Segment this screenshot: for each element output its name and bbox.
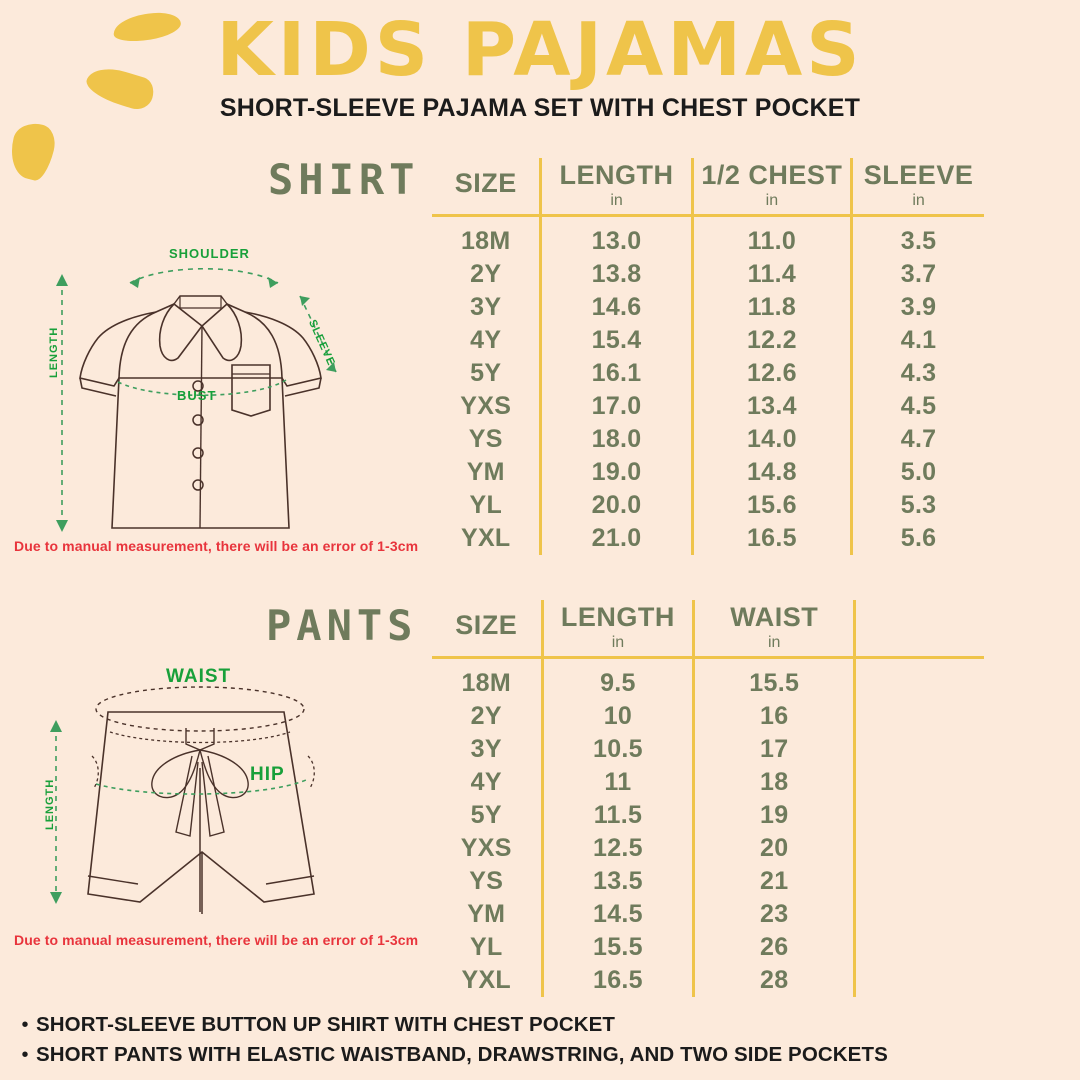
section-label-pants: PANTS <box>266 601 417 650</box>
table-row: 5Y11.519 <box>432 799 984 832</box>
cell-waist: 16 <box>694 700 855 733</box>
shirt-size-table: SIZE LENGTH in 1/2 CHEST in SLEEVE in 18… <box>432 158 984 555</box>
cell-half-chest: 11.4 <box>692 258 852 291</box>
table-row: YXS12.520 <box>432 832 984 865</box>
cell-waist: 20 <box>694 832 855 865</box>
cell-sleeve: 3.9 <box>852 291 984 324</box>
cell-length: 10.5 <box>542 733 694 766</box>
cell-spacer <box>855 658 984 701</box>
shirt-diagram: SHOULDER SLEEVE BUST LENGTH <box>14 238 414 543</box>
pants-label-length: LENGTH <box>44 779 56 830</box>
cell-waist: 26 <box>694 931 855 964</box>
cell-spacer <box>855 700 984 733</box>
table-row: YS18.014.04.7 <box>432 423 984 456</box>
page-title: KIDS PAJAMAS <box>0 0 1080 90</box>
table-row: YXS17.013.44.5 <box>432 390 984 423</box>
cell-length: 19.0 <box>541 456 692 489</box>
cell-length: 18.0 <box>541 423 692 456</box>
table-row: YXL21.016.55.6 <box>432 522 984 555</box>
cell-size: 18M <box>432 216 541 259</box>
cell-half-chest: 15.6 <box>692 489 852 522</box>
cell-size: 5Y <box>432 799 542 832</box>
cell-spacer <box>855 964 984 997</box>
cell-size: YL <box>432 931 542 964</box>
cell-length: 20.0 <box>541 489 692 522</box>
cell-spacer <box>855 799 984 832</box>
cell-half-chest: 11.8 <box>692 291 852 324</box>
pants-col-length: LENGTH in <box>542 600 694 658</box>
table-row: 2Y1016 <box>432 700 984 733</box>
cell-length: 11.5 <box>542 799 694 832</box>
cell-waist: 15.5 <box>694 658 855 701</box>
cell-length: 11 <box>542 766 694 799</box>
pants-measurement-disclaimer: Due to manual measurement, there will be… <box>14 932 418 948</box>
cell-sleeve: 3.7 <box>852 258 984 291</box>
list-item: • SHORT PANTS WITH ELASTIC WAISTBAND, DR… <box>14 1042 1064 1068</box>
pants-col-waist: WAIST in <box>694 600 855 658</box>
table-row: 3Y14.611.83.9 <box>432 291 984 324</box>
cell-sleeve: 3.5 <box>852 216 984 259</box>
pants-size-table: SIZE LENGTH in WAIST in 18M9.515.5 2Y101… <box>432 600 984 997</box>
cell-waist: 28 <box>694 964 855 997</box>
bullet-icon: • <box>14 1042 36 1068</box>
pants-col-size: SIZE <box>432 600 542 658</box>
table-row: 3Y10.517 <box>432 733 984 766</box>
cell-sleeve: 4.7 <box>852 423 984 456</box>
cell-waist: 21 <box>694 865 855 898</box>
product-features-list: • SHORT-SLEEVE BUTTON UP SHIRT WITH CHES… <box>14 1012 1064 1072</box>
cell-size: 18M <box>432 658 542 701</box>
cell-length: 9.5 <box>542 658 694 701</box>
cell-length: 16.1 <box>541 357 692 390</box>
pants-col-spacer <box>855 600 984 658</box>
cell-half-chest: 13.4 <box>692 390 852 423</box>
cell-sleeve: 4.1 <box>852 324 984 357</box>
cell-length: 13.5 <box>542 865 694 898</box>
pants-table-header-row: SIZE LENGTH in WAIST in <box>432 600 984 658</box>
cell-length: 13.8 <box>541 258 692 291</box>
cell-waist: 18 <box>694 766 855 799</box>
cell-length: 17.0 <box>541 390 692 423</box>
pants-illustration-svg <box>14 662 414 942</box>
cell-half-chest: 11.0 <box>692 216 852 259</box>
cell-size: YS <box>432 865 542 898</box>
cell-length: 10 <box>542 700 694 733</box>
table-row: YS13.521 <box>432 865 984 898</box>
pants-diagram: WAIST HIP LENGTH <box>14 662 414 947</box>
cell-spacer <box>855 832 984 865</box>
cell-half-chest: 12.2 <box>692 324 852 357</box>
cell-sleeve: 5.6 <box>852 522 984 555</box>
cell-half-chest: 12.6 <box>692 357 852 390</box>
shirt-label-length: LENGTH <box>48 327 60 378</box>
cell-size: YXS <box>432 832 542 865</box>
cell-size: YM <box>432 456 541 489</box>
cell-length: 15.5 <box>542 931 694 964</box>
shirt-col-size: SIZE <box>432 158 541 216</box>
decor-petal-left <box>5 119 59 183</box>
cell-sleeve: 5.3 <box>852 489 984 522</box>
cell-size: YM <box>432 898 542 931</box>
cell-size: 2Y <box>432 258 541 291</box>
cell-length: 16.5 <box>542 964 694 997</box>
cell-sleeve: 4.3 <box>852 357 984 390</box>
table-row: 2Y13.811.43.7 <box>432 258 984 291</box>
list-item: • SHORT-SLEEVE BUTTON UP SHIRT WITH CHES… <box>14 1012 1064 1038</box>
cell-spacer <box>855 766 984 799</box>
cell-spacer <box>855 733 984 766</box>
shirt-col-length: LENGTH in <box>541 158 692 216</box>
cell-length: 12.5 <box>542 832 694 865</box>
table-row: YXL16.528 <box>432 964 984 997</box>
shirt-col-half-chest: 1/2 CHEST in <box>692 158 852 216</box>
cell-size: 4Y <box>432 324 541 357</box>
bullet-icon: • <box>14 1012 36 1038</box>
feature-text: SHORT-SLEEVE BUTTON UP SHIRT WITH CHEST … <box>36 1012 615 1038</box>
cell-half-chest: 14.0 <box>692 423 852 456</box>
cell-length: 15.4 <box>541 324 692 357</box>
cell-spacer <box>855 898 984 931</box>
table-row: 18M13.011.03.5 <box>432 216 984 259</box>
cell-size: 3Y <box>432 733 542 766</box>
cell-half-chest: 14.8 <box>692 456 852 489</box>
cell-waist: 19 <box>694 799 855 832</box>
table-row: 4Y15.412.24.1 <box>432 324 984 357</box>
feature-text: SHORT PANTS WITH ELASTIC WAISTBAND, DRAW… <box>36 1042 888 1068</box>
cell-size: 5Y <box>432 357 541 390</box>
cell-length: 13.0 <box>541 216 692 259</box>
table-row: YL15.526 <box>432 931 984 964</box>
cell-size: 4Y <box>432 766 542 799</box>
pants-label-hip: HIP <box>250 764 285 786</box>
cell-size: YXL <box>432 964 542 997</box>
page-subtitle: SHORT-SLEEVE PAJAMA SET WITH CHEST POCKE… <box>0 90 1080 123</box>
cell-length: 14.5 <box>542 898 694 931</box>
table-row: 18M9.515.5 <box>432 658 984 701</box>
cell-length: 14.6 <box>541 291 692 324</box>
table-row: 4Y1118 <box>432 766 984 799</box>
cell-size: 2Y <box>432 700 542 733</box>
table-row: YM19.014.85.0 <box>432 456 984 489</box>
shirt-label-bust: BUST <box>177 388 216 403</box>
cell-size: YL <box>432 489 541 522</box>
table-row: 5Y16.112.64.3 <box>432 357 984 390</box>
cell-size: YXS <box>432 390 541 423</box>
pants-label-waist: WAIST <box>166 666 231 688</box>
shirt-col-sleeve: SLEEVE in <box>852 158 984 216</box>
cell-spacer <box>855 931 984 964</box>
shirt-label-shoulder: SHOULDER <box>169 246 250 261</box>
page-header: KIDS PAJAMAS SHORT-SLEEVE PAJAMA SET WIT… <box>0 0 1080 123</box>
cell-waist: 23 <box>694 898 855 931</box>
cell-sleeve: 5.0 <box>852 456 984 489</box>
cell-spacer <box>855 865 984 898</box>
table-row: YM14.523 <box>432 898 984 931</box>
cell-size: YXL <box>432 522 541 555</box>
section-label-shirt: SHIRT <box>268 155 419 204</box>
shirt-table-header-row: SIZE LENGTH in 1/2 CHEST in SLEEVE in <box>432 158 984 216</box>
cell-waist: 17 <box>694 733 855 766</box>
cell-size: 3Y <box>432 291 541 324</box>
cell-size: YS <box>432 423 541 456</box>
cell-length: 21.0 <box>541 522 692 555</box>
cell-half-chest: 16.5 <box>692 522 852 555</box>
table-row: YL20.015.65.3 <box>432 489 984 522</box>
cell-sleeve: 4.5 <box>852 390 984 423</box>
shirt-measurement-disclaimer: Due to manual measurement, there will be… <box>14 538 418 554</box>
